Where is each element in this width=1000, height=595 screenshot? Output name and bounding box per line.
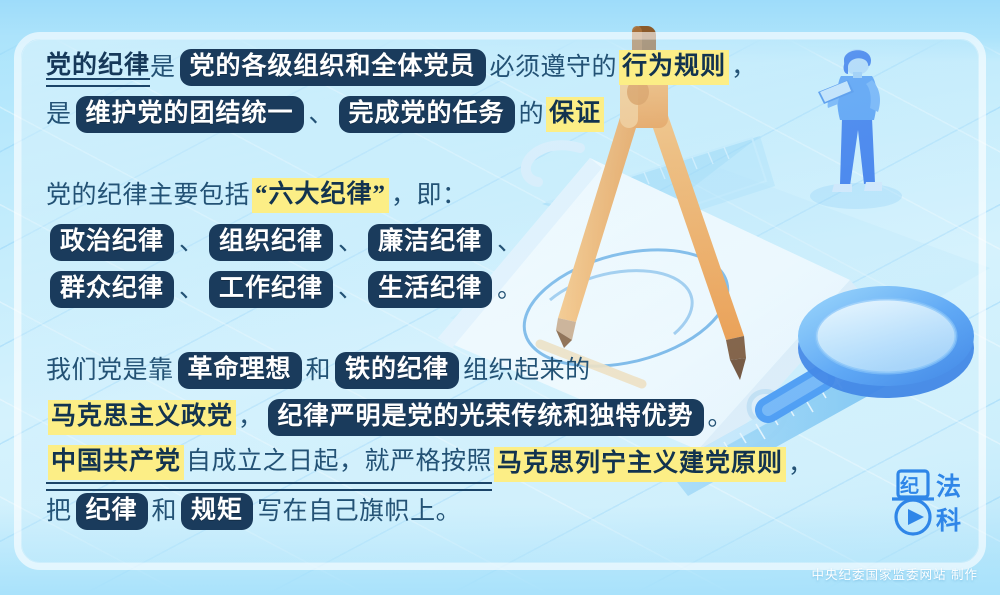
text-run: 把: [46, 499, 72, 524]
pill-revolutionary-ideals: 革命理想: [178, 352, 302, 390]
logo-char-fa: 法: [936, 473, 961, 501]
paragraph-1: 党的纪律 是 党的各级组织和全体党员 必须遵守的 行为规则 ， 是 维护党的团结…: [46, 44, 746, 138]
paragraph-spacer: [46, 142, 746, 172]
text-run: 是: [150, 55, 176, 80]
text-separator: 、: [337, 277, 364, 302]
text-run: 党的纪律主要包括: [46, 183, 250, 208]
text-run: 是: [46, 102, 72, 127]
text-run: ，即：: [391, 183, 468, 208]
highlight-marxist-leninist-principles: 马克思列宁主义建党原则: [494, 447, 786, 482]
credit-line: 中央纪委国家监委网站 制作: [812, 564, 978, 583]
pill-political-discipline: 政治纪律: [50, 224, 174, 262]
text-separator: 、: [308, 102, 335, 127]
pill-rules: 规矩: [181, 493, 253, 531]
text-run: 和: [152, 499, 178, 524]
text-run: 的: [519, 102, 545, 127]
text-run: ，: [731, 55, 757, 80]
highlight-marxist-party: 马克思主义政党: [48, 400, 236, 435]
pill-all-party-organizations: 党的各级组织和全体党员: [180, 49, 486, 87]
text-run: 必须遵守的: [490, 55, 618, 80]
text-separator: 、: [178, 230, 205, 255]
emphasis-party-discipline: 党的纪律: [46, 53, 150, 82]
text-line-2: 是 维护党的团结统一 、 完成党的任务 的 保证: [46, 91, 746, 138]
text-line-4: 政治纪律 、 组织纪律 、 廉洁纪律 、: [46, 219, 746, 266]
pill-discipline: 纪律: [76, 493, 148, 531]
logo-char-ke: 科: [936, 507, 961, 535]
text-run: 自成立之日起，就严格按照: [186, 448, 492, 475]
pill-maintain-party-unity: 维护党的团结统一: [76, 96, 304, 134]
pill-mass-discipline: 群众纪律: [50, 271, 174, 309]
highlight-guarantee: 保证: [546, 97, 604, 132]
text-run: ，: [788, 452, 814, 477]
pill-life-discipline: 生活纪律: [368, 271, 492, 309]
text-separator: 、: [496, 230, 523, 255]
text-run: 写在自己旗帜上。: [257, 499, 461, 524]
highlight-six-disciplines: “六大纪律”: [252, 178, 389, 213]
text-line-5: 群众纪律 、 工作纪律 、 生活纪律 。: [46, 266, 746, 313]
text-separator: 、: [178, 277, 205, 302]
pill-strict-discipline-tradition: 纪律严明是党的光荣传统和独特优势: [268, 399, 704, 437]
text-run: 我们党是靠: [46, 358, 174, 383]
text-line-8: 中国共产党自成立之日起，就严格按照 马克思列宁主义建党原则 ，: [46, 441, 746, 488]
text-run: ，: [238, 405, 264, 430]
logo-char-ji: 纪: [900, 474, 919, 497]
text-line-1: 党的纪律 是 党的各级组织和全体党员 必须遵守的 行为规则 ，: [46, 44, 746, 91]
content-text-block: 党的纪律 是 党的各级组织和全体党员 必须遵守的 行为规则 ， 是 维护党的团结…: [46, 44, 746, 539]
text-line-6: 我们党是靠 革命理想 和 铁的纪律 组织起来的: [46, 347, 746, 394]
jifa-baike-logo: 纪 法 科: [876, 467, 980, 539]
highlight-code-of-conduct: 行为规则: [619, 50, 729, 85]
pill-organizational-discipline: 组织纪律: [209, 224, 333, 262]
poster-canvas: 党的纪律 是 党的各级组织和全体党员 必须遵守的 行为规则 ， 是 维护党的团结…: [0, 0, 1000, 595]
paragraph-2: 党的纪律主要包括 “六大纪律” ，即： 政治纪律 、 组织纪律 、 廉洁纪律 、…: [46, 172, 746, 313]
paragraph-spacer: [46, 317, 746, 347]
pill-fulfil-party-tasks: 完成党的任务: [339, 96, 515, 134]
text-line-9: 把 纪律 和 规矩 写在自己旗帜上。: [46, 488, 746, 535]
pill-iron-discipline: 铁的纪律: [335, 352, 459, 390]
highlight-communist-party-china: 中国共产党: [48, 445, 184, 480]
pill-work-discipline: 工作纪律: [209, 271, 333, 309]
text-run: 。: [708, 405, 734, 430]
text-line-7: 马克思主义政党 ， 纪律严明是党的光荣传统和独特优势 。: [46, 394, 746, 441]
text-line-3: 党的纪律主要包括 “六大纪律” ，即：: [46, 172, 746, 219]
underline-group-cpc-founding: 中国共产党自成立之日起，就严格按照: [46, 445, 492, 484]
text-run: 和: [306, 358, 332, 383]
text-run: 组织起来的: [463, 358, 591, 383]
pill-integrity-discipline: 廉洁纪律: [368, 224, 492, 262]
text-separator: 、: [337, 230, 364, 255]
text-separator: 。: [496, 277, 523, 302]
paragraph-3: 我们党是靠 革命理想 和 铁的纪律 组织起来的 马克思主义政党 ， 纪律严明是党…: [46, 347, 746, 535]
